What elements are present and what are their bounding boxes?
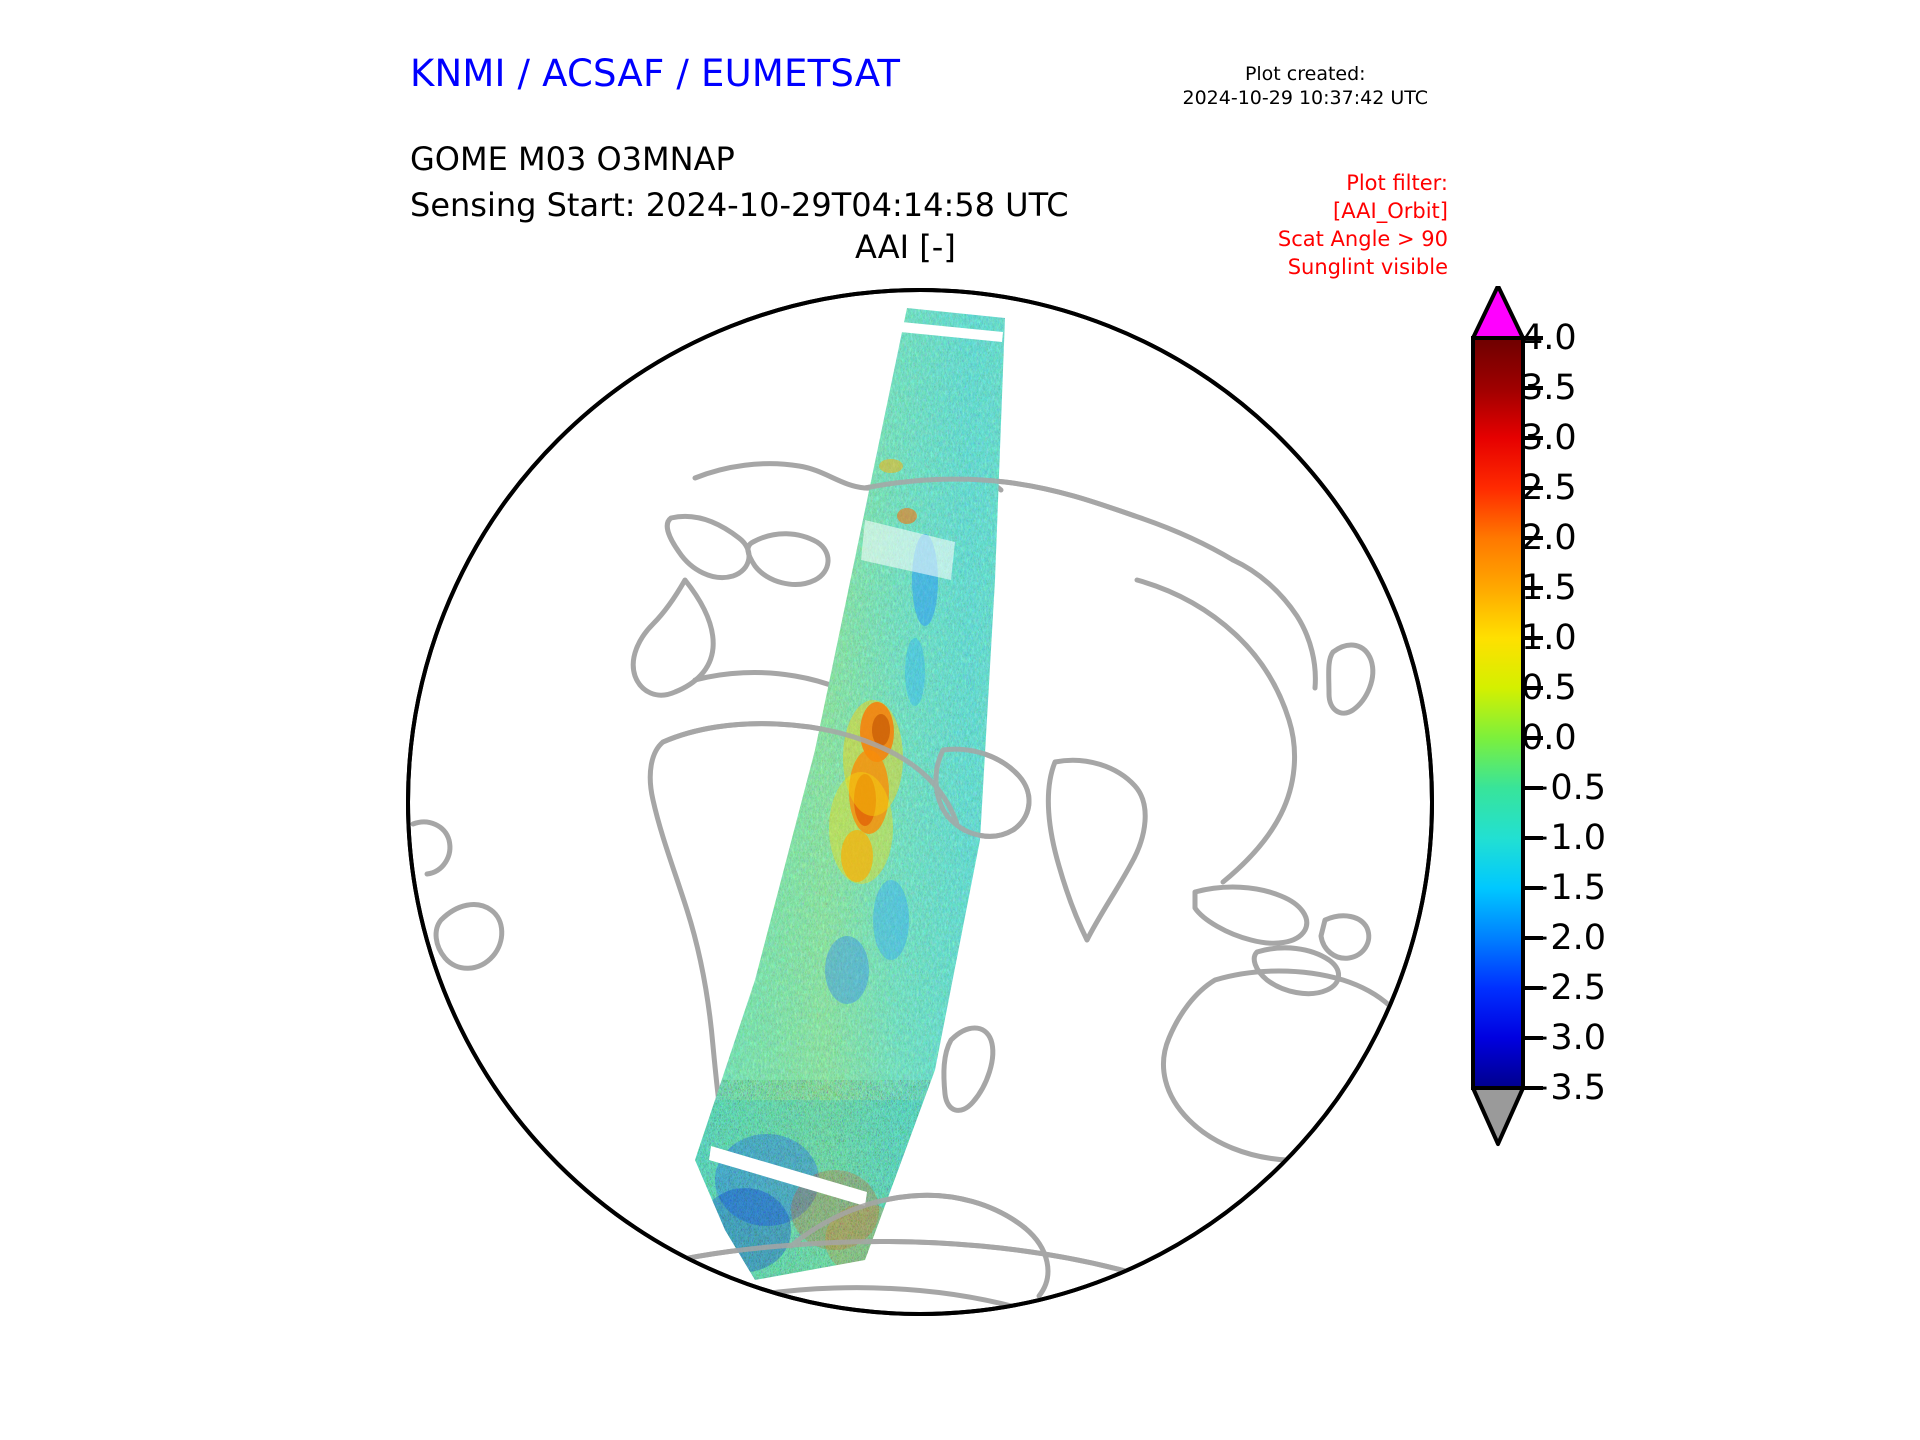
plot-filter-note: Sunglint visible [1278,254,1448,282]
colorbar-tick-label: 4.0 [1521,318,1577,358]
colorbar-tick-label: −3.0 [1521,1018,1606,1058]
product-title: GOME M03 O3MNAP [410,140,735,178]
colorbar-tick-label: 2.0 [1521,518,1577,558]
plot-filter-block: Plot filter: [AAI_Orbit] Scat Angle > 90… [1278,170,1448,282]
colorbar-tick-label: 3.0 [1521,418,1577,458]
colorbar-tick-label: 0.5 [1521,668,1577,708]
sensing-start-text: Sensing Start: 2024-10-29T04:14:58 UTC [410,186,1069,224]
colorbar-over-arrow [1473,286,1523,338]
globe-map [395,280,1445,1330]
colorbar-tick-label: 0.0 [1521,718,1577,758]
plot-created-label: Plot created: [1183,62,1429,86]
plot-filter-name: [AAI_Orbit] [1278,198,1448,226]
colorbar-gradient [1473,338,1523,1088]
plot-filter-label: Plot filter: [1278,170,1448,198]
colorbar-tick-label: −0.5 [1521,768,1606,808]
colorbar-under-arrow [1473,1088,1523,1144]
colorbar-tick-label: 1.0 [1521,618,1577,658]
hotspot-north [897,508,917,524]
plot-filter-condition: Scat Angle > 90 [1278,226,1448,254]
colorbar: 4.0 3.5 3.0 2.5 2.0 1.5 1.0 0.5 0.0 −0.5… [1443,286,1673,1336]
page-title: AAI [-] [855,228,956,266]
colorbar-tick-label: 3.5 [1521,368,1577,408]
agency-title: KNMI / ACSAF / EUMETSAT [410,52,900,95]
colorbar-tick-label: 2.5 [1521,468,1577,508]
plot-created-timestamp: 2024-10-29 10:37:42 UTC [1183,86,1429,110]
globe-svg [395,280,1445,1330]
plot-page: KNMI / ACSAF / EUMETSAT GOME M03 O3MNAP … [0,0,1920,1440]
colorbar-tick-label: 1.5 [1521,568,1577,608]
colorbar-tick-label: −2.5 [1521,968,1606,1008]
colorbar-tick-label: −1.0 [1521,818,1606,858]
plot-created-block: Plot created: 2024-10-29 10:37:42 UTC [1183,62,1429,111]
colorbar-tick-label: −1.5 [1521,868,1606,908]
colorbar-tick-label: −2.0 [1521,918,1606,958]
colorbar-tick-label: −3.5 [1521,1068,1606,1108]
